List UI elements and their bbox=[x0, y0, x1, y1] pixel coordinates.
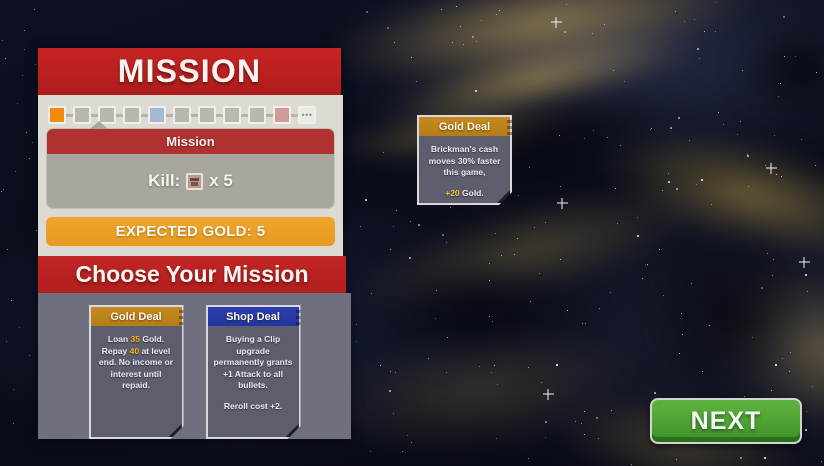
star bbox=[5, 58, 6, 59]
shop-deal-card[interactable]: Shop DealBuying a Clip upgrade permanent… bbox=[206, 305, 301, 439]
star bbox=[35, 64, 36, 65]
star bbox=[356, 341, 357, 342]
star bbox=[499, 10, 500, 11]
star bbox=[389, 390, 391, 392]
star bbox=[446, 372, 447, 373]
star bbox=[365, 199, 367, 201]
star bbox=[715, 31, 716, 32]
star bbox=[564, 31, 566, 33]
star bbox=[654, 392, 656, 394]
shop-deal-card-title: Shop Deal bbox=[226, 311, 280, 323]
star bbox=[651, 128, 652, 129]
gold-deal-card-header: Gold Deal bbox=[91, 307, 182, 326]
mission-detail-header: Mission bbox=[47, 129, 334, 154]
star bbox=[390, 371, 391, 372]
star bbox=[696, 184, 697, 185]
star bbox=[650, 129, 651, 130]
star bbox=[783, 16, 785, 18]
progress-link bbox=[166, 114, 173, 117]
star bbox=[694, 19, 695, 20]
nebula-void bbox=[360, 255, 590, 365]
star bbox=[495, 233, 496, 234]
progress-link bbox=[241, 114, 248, 117]
star bbox=[599, 308, 600, 309]
progress-node-blue[interactable] bbox=[148, 106, 166, 124]
star bbox=[740, 457, 742, 459]
star bbox=[560, 186, 561, 187]
progress-node-gray[interactable] bbox=[173, 106, 191, 124]
star bbox=[29, 355, 30, 356]
star bbox=[663, 295, 664, 296]
star bbox=[585, 323, 586, 324]
star bbox=[592, 33, 593, 34]
star bbox=[545, 222, 546, 223]
progress-node-gray[interactable] bbox=[123, 106, 141, 124]
gold-deal-tooltip-card[interactable]: Gold Deal Brickman's cash moves 30% fast… bbox=[417, 115, 512, 205]
star bbox=[383, 152, 384, 153]
star bbox=[615, 188, 616, 189]
star bbox=[748, 186, 749, 187]
star bbox=[494, 365, 495, 366]
star bbox=[624, 81, 625, 82]
star bbox=[518, 195, 519, 196]
star bbox=[561, 202, 563, 204]
progress-node-gray[interactable] bbox=[198, 106, 216, 124]
star bbox=[774, 135, 775, 136]
star bbox=[411, 442, 412, 443]
card-corner-fold bbox=[286, 424, 299, 437]
star bbox=[452, 42, 453, 43]
star bbox=[761, 287, 763, 289]
star bbox=[801, 139, 802, 140]
star bbox=[765, 165, 766, 166]
star bbox=[34, 9, 35, 10]
star bbox=[11, 300, 12, 301]
star bbox=[744, 396, 745, 397]
star bbox=[539, 273, 540, 274]
star bbox=[702, 371, 703, 372]
star bbox=[555, 21, 557, 23]
star bbox=[771, 390, 772, 391]
star bbox=[481, 20, 482, 21]
star bbox=[805, 274, 807, 276]
progress-node-orange[interactable] bbox=[48, 106, 66, 124]
star bbox=[613, 70, 614, 71]
gold-deal-tooltip-text: Brickman's cash moves 30% faster this ga… bbox=[424, 144, 505, 179]
star bbox=[407, 435, 408, 436]
star bbox=[775, 364, 777, 366]
star bbox=[752, 337, 753, 338]
star bbox=[718, 112, 719, 113]
star bbox=[709, 325, 710, 326]
deal-choice-area: Gold DealLoan 35 Gold. Repay 40 at level… bbox=[38, 293, 351, 439]
star bbox=[740, 121, 741, 122]
star bbox=[631, 464, 632, 465]
star bbox=[15, 171, 16, 172]
page-title: MISSION bbox=[118, 53, 262, 90]
star bbox=[496, 438, 497, 439]
star bbox=[637, 235, 639, 237]
star bbox=[394, 42, 395, 43]
progress-link bbox=[266, 114, 273, 117]
star bbox=[545, 437, 546, 438]
star bbox=[747, 155, 749, 157]
star bbox=[390, 249, 391, 250]
mission-panel: MISSION ••• Mission Kill: x 5 E bbox=[38, 48, 351, 450]
highlight-value: 40 bbox=[130, 346, 139, 356]
star bbox=[559, 135, 560, 136]
star bbox=[659, 249, 660, 250]
star bbox=[764, 457, 766, 459]
star bbox=[767, 253, 768, 254]
star bbox=[812, 386, 813, 387]
star bbox=[645, 264, 646, 265]
star bbox=[781, 176, 782, 177]
star bbox=[371, 293, 372, 294]
star bbox=[776, 174, 777, 175]
kill-count: x 5 bbox=[209, 171, 233, 191]
choose-mission-label: Choose Your Mission bbox=[75, 261, 308, 288]
progress-link bbox=[191, 114, 198, 117]
kill-label: Kill: bbox=[148, 171, 180, 191]
star bbox=[492, 321, 493, 322]
star bbox=[22, 75, 23, 76]
progress-link bbox=[116, 114, 123, 117]
star bbox=[807, 291, 808, 292]
mission-objective: Kill: x 5 bbox=[47, 154, 334, 208]
star bbox=[475, 90, 477, 92]
star bbox=[387, 27, 389, 29]
star bbox=[704, 31, 705, 32]
star bbox=[723, 124, 724, 125]
mission-detail-wrapper: Mission Kill: x 5 bbox=[46, 128, 335, 209]
star bbox=[584, 434, 585, 435]
next-button[interactable]: NEXT bbox=[650, 398, 802, 444]
shop-deal-card-body: Buying a Clip upgrade permanently grants… bbox=[208, 326, 299, 416]
star bbox=[446, 242, 447, 243]
star bbox=[770, 167, 772, 169]
gold-deal-card[interactable]: Gold DealLoan 35 Gold. Repay 40 at level… bbox=[89, 305, 184, 439]
star bbox=[581, 423, 582, 424]
star bbox=[780, 83, 781, 84]
shop-deal-card-text: Reroll cost +2. bbox=[213, 401, 294, 413]
star bbox=[782, 358, 783, 359]
enemy-brick-icon bbox=[186, 173, 203, 190]
star bbox=[36, 230, 37, 231]
expected-gold-value: 5 bbox=[257, 223, 266, 240]
star bbox=[789, 371, 790, 372]
star bbox=[366, 11, 368, 13]
shop-deal-card-text: Buying a Clip upgrade permanently grants… bbox=[213, 334, 294, 392]
progress-link bbox=[91, 114, 98, 117]
star bbox=[416, 81, 417, 82]
deal-text-segment: Buying a Clip upgrade permanently grants… bbox=[214, 334, 293, 390]
mission-panel-body: ••• Mission Kill: x 5 EXPECTED GOLD: 5 bbox=[38, 95, 343, 256]
star bbox=[472, 36, 474, 38]
star bbox=[803, 261, 805, 263]
deal-text-segment: Loan bbox=[108, 334, 131, 344]
star bbox=[617, 223, 618, 224]
gold-deal-tooltip-title: Gold Deal bbox=[439, 121, 490, 133]
star bbox=[3, 189, 4, 190]
star bbox=[479, 366, 480, 367]
star bbox=[742, 70, 743, 71]
star bbox=[441, 9, 442, 10]
star bbox=[491, 372, 492, 373]
star bbox=[773, 259, 774, 260]
star bbox=[715, 2, 716, 3]
star bbox=[821, 461, 822, 462]
game-screen: MISSION ••• Mission Kill: x 5 E bbox=[0, 0, 824, 466]
gold-deal-tooltip-reward: +20 Gold. bbox=[424, 188, 505, 200]
star bbox=[701, 179, 703, 181]
mission-detail-card: Mission Kill: x 5 bbox=[46, 128, 335, 209]
panel-title-bar: MISSION bbox=[38, 48, 341, 95]
star bbox=[556, 364, 558, 366]
star bbox=[560, 259, 561, 260]
star bbox=[593, 130, 594, 131]
star bbox=[611, 410, 612, 411]
star bbox=[497, 384, 498, 385]
star bbox=[13, 389, 14, 390]
progress-link bbox=[216, 114, 223, 117]
star bbox=[402, 451, 403, 452]
next-button-label: NEXT bbox=[691, 407, 762, 436]
star bbox=[380, 365, 381, 366]
star bbox=[668, 173, 669, 174]
star bbox=[428, 358, 429, 359]
card-corner-fold bbox=[169, 424, 182, 437]
star bbox=[1, 191, 2, 192]
star bbox=[816, 72, 817, 73]
star bbox=[442, 234, 444, 236]
star bbox=[24, 30, 25, 31]
star bbox=[360, 226, 361, 227]
star bbox=[29, 158, 30, 159]
star bbox=[476, 41, 477, 42]
star bbox=[596, 417, 598, 419]
star bbox=[395, 372, 396, 373]
gold-reward-suffix: Gold. bbox=[460, 188, 484, 198]
star bbox=[805, 429, 807, 431]
star bbox=[435, 318, 436, 319]
star bbox=[806, 411, 807, 412]
star bbox=[584, 411, 585, 412]
star bbox=[584, 138, 585, 139]
star bbox=[676, 188, 678, 190]
star bbox=[684, 21, 685, 22]
star bbox=[489, 280, 490, 281]
shop-deal-card-header: Shop Deal bbox=[208, 307, 299, 326]
star bbox=[567, 310, 568, 311]
star bbox=[534, 227, 535, 228]
star bbox=[418, 224, 420, 226]
progress-node-red[interactable] bbox=[273, 106, 291, 124]
star bbox=[13, 423, 14, 424]
choose-mission-banner: Choose Your Mission bbox=[38, 256, 346, 293]
star bbox=[528, 367, 529, 368]
star bbox=[409, 257, 411, 259]
star bbox=[575, 421, 576, 422]
star bbox=[795, 56, 796, 57]
star bbox=[670, 127, 672, 129]
star bbox=[450, 207, 451, 208]
gold-deal-tooltip-header: Gold Deal bbox=[419, 117, 510, 136]
star bbox=[545, 421, 547, 423]
progress-link bbox=[291, 114, 298, 117]
star bbox=[447, 337, 448, 338]
star bbox=[679, 353, 680, 354]
star bbox=[676, 459, 677, 460]
star bbox=[681, 313, 682, 314]
star bbox=[529, 167, 530, 168]
progress-node-gray[interactable] bbox=[223, 106, 241, 124]
star bbox=[711, 204, 712, 205]
star bbox=[815, 165, 816, 166]
progress-node-more[interactable]: ••• bbox=[298, 106, 316, 124]
star bbox=[6, 341, 7, 342]
star bbox=[647, 264, 648, 265]
star bbox=[678, 117, 680, 119]
star bbox=[24, 49, 25, 50]
star bbox=[662, 190, 663, 191]
deal-text-segment: Reroll cost +2. bbox=[224, 401, 282, 411]
star bbox=[517, 238, 518, 239]
gold-deal-card-body: Loan 35 Gold. Repay 40 at level end. No … bbox=[91, 326, 182, 396]
star bbox=[463, 44, 464, 45]
star bbox=[668, 181, 670, 183]
star bbox=[541, 382, 542, 383]
star bbox=[784, 56, 785, 57]
star bbox=[772, 275, 773, 276]
star bbox=[582, 323, 583, 324]
star bbox=[598, 438, 599, 439]
star bbox=[566, 4, 567, 5]
star bbox=[778, 96, 779, 97]
star bbox=[460, 26, 461, 27]
star bbox=[682, 334, 683, 335]
gold-deal-tooltip-body: Brickman's cash moves 30% faster this ga… bbox=[419, 136, 510, 203]
star bbox=[396, 210, 397, 211]
star bbox=[530, 301, 531, 302]
expected-gold-label: EXPECTED GOLD: bbox=[116, 223, 252, 240]
star bbox=[7, 249, 8, 250]
expected-gold-bar: EXPECTED GOLD: 5 bbox=[46, 217, 335, 246]
star bbox=[642, 278, 643, 279]
progress-node-gray[interactable] bbox=[248, 106, 266, 124]
gold-deal-card-title: Gold Deal bbox=[110, 311, 161, 323]
star bbox=[436, 290, 437, 291]
star bbox=[393, 413, 394, 414]
star bbox=[32, 142, 33, 143]
star bbox=[699, 58, 700, 59]
star bbox=[514, 254, 515, 255]
gold-deal-card-text: Loan 35 Gold. Repay 40 at level end. No … bbox=[96, 334, 177, 392]
star bbox=[675, 11, 676, 12]
star bbox=[489, 316, 490, 317]
gold-reward-amount: +20 bbox=[445, 188, 459, 198]
star bbox=[456, 6, 457, 7]
star bbox=[370, 451, 371, 452]
star bbox=[737, 134, 738, 135]
star bbox=[356, 324, 357, 325]
star bbox=[637, 217, 638, 218]
star bbox=[610, 292, 611, 293]
star bbox=[689, 140, 690, 141]
star bbox=[547, 393, 549, 395]
star bbox=[691, 283, 692, 284]
star bbox=[410, 221, 411, 222]
star bbox=[411, 57, 412, 58]
star bbox=[501, 255, 502, 256]
star bbox=[393, 226, 394, 227]
star bbox=[496, 14, 497, 15]
progress-link bbox=[141, 114, 148, 117]
progress-node-gray[interactable] bbox=[73, 106, 91, 124]
star bbox=[620, 145, 621, 146]
mission-detail-title: Mission bbox=[166, 134, 214, 149]
detail-pointer-arrow bbox=[90, 121, 108, 129]
star bbox=[604, 24, 605, 25]
star bbox=[19, 327, 20, 328]
star bbox=[607, 137, 608, 138]
star bbox=[697, 48, 699, 50]
progress-link bbox=[66, 114, 73, 117]
highlight-value: 35 bbox=[131, 334, 140, 344]
star bbox=[17, 103, 18, 104]
star bbox=[26, 132, 27, 133]
star bbox=[489, 263, 490, 264]
star bbox=[528, 458, 529, 459]
star bbox=[790, 352, 791, 353]
star bbox=[2, 40, 3, 41]
